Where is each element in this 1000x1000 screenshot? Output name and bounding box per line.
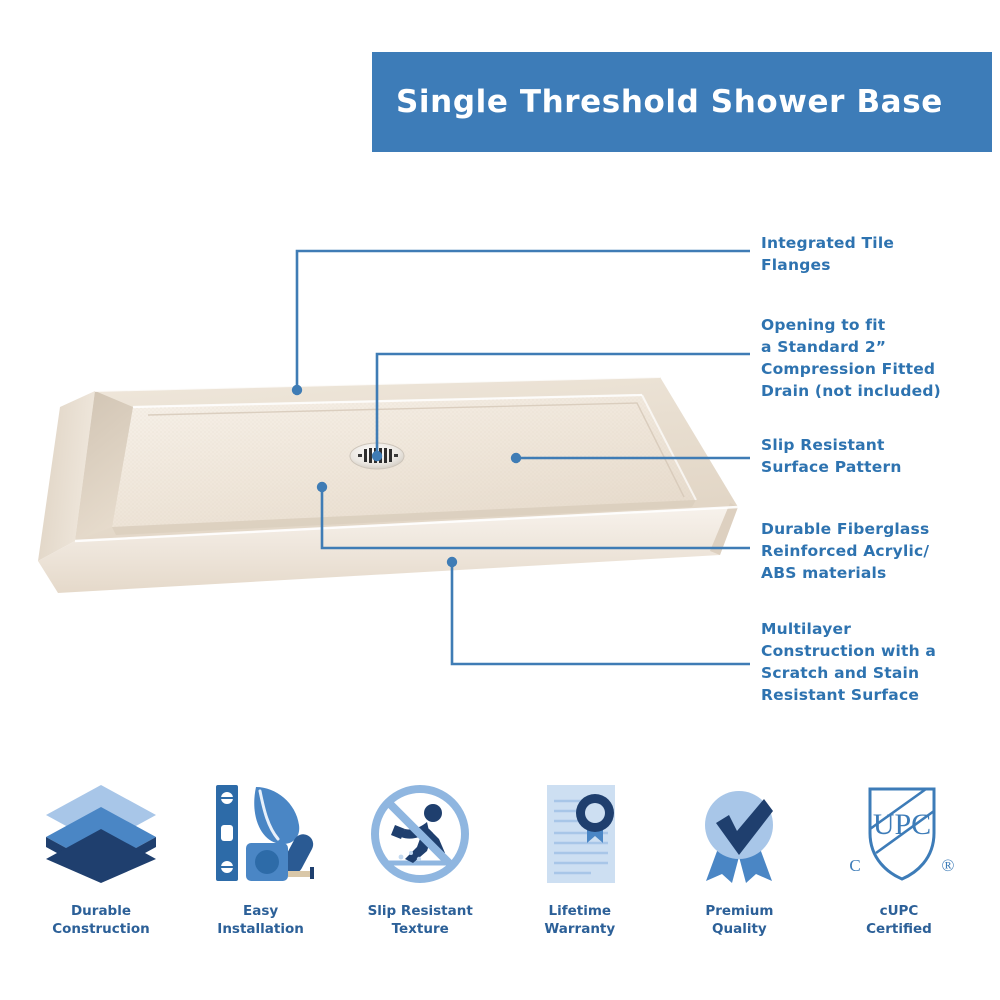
feature-slip-resistant: Slip Resistant Texture — [345, 775, 495, 939]
feature-label: Lifetime Warranty — [544, 903, 615, 939]
upc-shield-icon: UPC C ® — [835, 775, 963, 893]
callout-integrated-tile-flanges: Integrated Tile Flanges — [761, 232, 894, 276]
header-bar: Single Threshold Shower Base — [372, 52, 992, 152]
feature-cupc-certified: UPC C ® cUPC Certified — [824, 775, 974, 939]
callout-slip-resistant-surface: Slip Resistant Surface Pattern — [761, 434, 902, 478]
feature-label: cUPC Certified — [866, 903, 932, 939]
upc-shield-right-mark: ® — [942, 856, 955, 875]
level-and-trowel-icon — [197, 775, 325, 893]
feature-easy-installation: Easy Installation — [186, 775, 336, 939]
feature-label: Slip Resistant Texture — [368, 903, 473, 939]
feature-label: Easy Installation — [217, 903, 304, 939]
feature-label: Premium Quality — [705, 903, 773, 939]
shower-base-drawing — [20, 355, 760, 605]
feature-lifetime-warranty: Lifetime Warranty — [505, 775, 655, 939]
upc-shield-left-mark: C — [849, 856, 860, 875]
check-rosette-icon — [675, 775, 803, 893]
callout-durable-materials: Durable Fiberglass Reinforced Acrylic/ A… — [761, 518, 929, 584]
feature-label: Durable Construction — [52, 903, 150, 939]
callout-multilayer-construction: Multilayer Construction with a Scratch a… — [761, 618, 936, 706]
callout-drain-opening: Opening to fit a Standard 2” Compression… — [761, 314, 941, 402]
feature-strip: Durable Construction — [0, 775, 1000, 970]
stacked-layers-icon — [37, 775, 165, 893]
page-title: Single Threshold Shower Base — [396, 84, 943, 120]
certificate-icon — [516, 775, 644, 893]
feature-durable-construction: Durable Construction — [26, 775, 176, 939]
infographic-canvas: Single Threshold Shower Base — [0, 0, 1000, 1000]
upc-shield-text: UPC — [873, 808, 931, 841]
feature-premium-quality: Premium Quality — [664, 775, 814, 939]
product-illustration — [20, 355, 760, 605]
no-slip-icon — [356, 775, 484, 893]
